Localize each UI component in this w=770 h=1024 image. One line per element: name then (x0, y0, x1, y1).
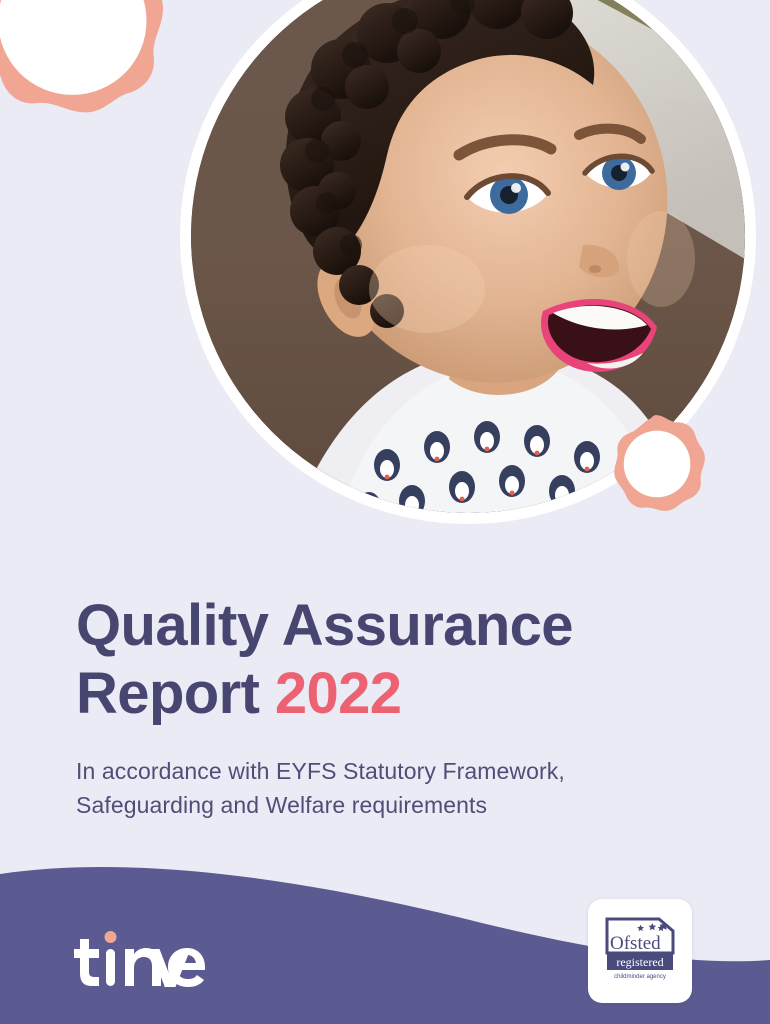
page-subtitle: In accordance with EYFS Statutory Framew… (76, 754, 716, 823)
ofsted-registered-text: registered (616, 955, 663, 969)
title-year: 2022 (275, 661, 402, 726)
subtitle-line-1: In accordance with EYFS Statutory Framew… (76, 754, 716, 789)
ofsted-qualifier-text: childminder agency (614, 974, 666, 980)
tiney-logo (74, 925, 210, 987)
tiney-logo-dot (105, 931, 117, 943)
title-line-1: Quality Assurance (76, 593, 573, 658)
cover-title-block: Quality Assurance Report 2022 In accorda… (76, 592, 716, 823)
ofsted-mark-icon: Ofsted registered childminder agency (604, 916, 676, 986)
subtitle-line-2: Safeguarding and Welfare requirements (76, 788, 716, 823)
ofsted-registered-badge: Ofsted registered childminder agency (588, 899, 692, 1003)
scallop-decoration-top-left (0, 0, 164, 132)
scallop-decoration-bottom-right (604, 413, 708, 517)
report-cover-page: Quality Assurance Report 2022 In accorda… (0, 0, 770, 1024)
title-line-2: Report (76, 661, 275, 726)
tiney-wordmark (74, 939, 205, 987)
ofsted-wordmark-text: Ofsted (610, 933, 661, 954)
page-title: Quality Assurance Report 2022 (76, 592, 716, 728)
scallop-inner-circle (624, 431, 691, 498)
